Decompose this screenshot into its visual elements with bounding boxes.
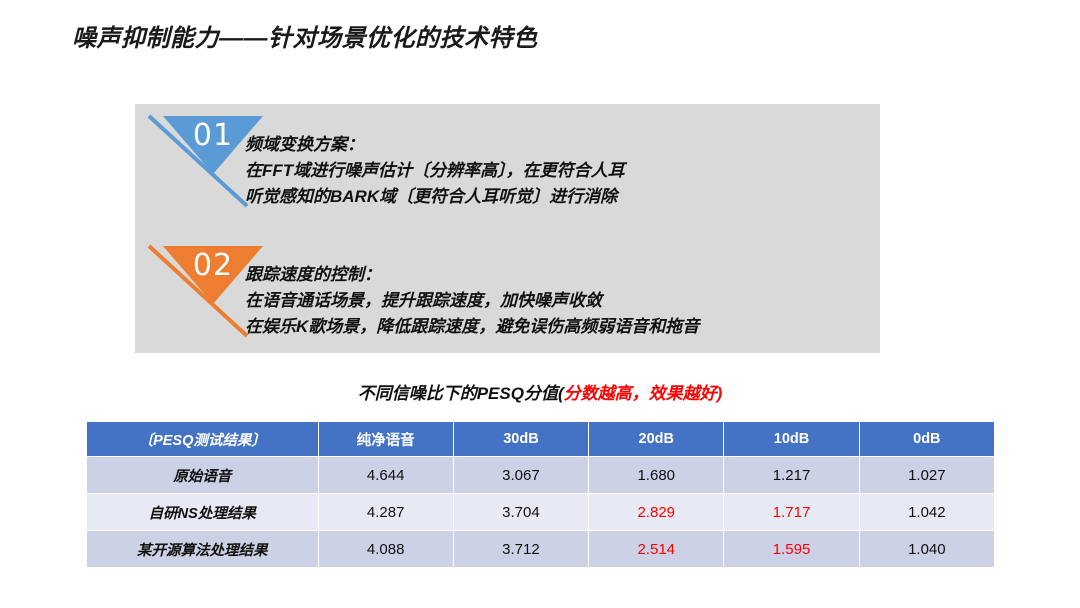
table-row: 原始语音 4.644 3.067 1.680 1.217 1.027	[87, 457, 995, 494]
table-header-row: 〔PESQ测试结果〕 纯净语音 30dB 20dB 10dB 0dB	[87, 422, 995, 457]
cell-value: 1.040	[859, 531, 994, 568]
table-header-cell-5: 0dB	[859, 422, 994, 457]
feature-heading-02: 跟踪速度的控制：	[245, 262, 699, 288]
table-header-cell-1: 纯净语音	[318, 422, 453, 457]
table-caption-highlight: 分数越高，效果越好)	[564, 384, 723, 403]
feature-line-02-2: 在娱乐K歌场景，降低跟踪速度，避免误伤高频弱语音和拖音	[245, 314, 699, 340]
table-header-cell-0: 〔PESQ测试结果〕	[87, 422, 319, 457]
feature-text-01: 频域变换方案： 在FFT域进行噪声估计〔分辨率高〕，在更符合人耳 听觉感知的BA…	[245, 132, 625, 210]
cell-value: 1.680	[589, 457, 724, 494]
table-caption: 不同信噪比下的PESQ分值(分数越高，效果越好)	[0, 379, 1080, 404]
cell-value: 2.829	[589, 494, 724, 531]
cell-value: 4.644	[318, 457, 453, 494]
cell-value: 3.704	[453, 494, 588, 531]
cell-value: 2.514	[589, 531, 724, 568]
table-header-cell-4: 10dB	[724, 422, 859, 457]
cell-value: 1.595	[724, 531, 859, 568]
cell-value: 1.042	[859, 494, 994, 531]
cell-value: 1.217	[724, 457, 859, 494]
cell-value: 1.027	[859, 457, 994, 494]
row-label: 自研NS处理结果	[87, 494, 319, 531]
page-title: 噪声抑制能力——针对场景优化的技术特色	[72, 18, 538, 53]
cell-value: 3.067	[453, 457, 588, 494]
feature-line-01-2: 听觉感知的BARK域〔更符合人耳听觉〕进行消除	[245, 184, 625, 210]
table-header-cell-2: 30dB	[453, 422, 588, 457]
feature-heading-01: 频域变换方案：	[245, 132, 625, 158]
table-body: 原始语音 4.644 3.067 1.680 1.217 1.027 自研NS处…	[87, 457, 995, 568]
table-header: 〔PESQ测试结果〕 纯净语音 30dB 20dB 10dB 0dB	[87, 422, 995, 457]
feature-text-02: 跟踪速度的控制： 在语音通话场景，提升跟踪速度，加快噪声收敛 在娱乐K歌场景，降…	[245, 262, 699, 340]
cell-value: 4.287	[318, 494, 453, 531]
feature-line-02-1: 在语音通话场景，提升跟踪速度，加快噪声收敛	[245, 288, 699, 314]
table-caption-normal: 不同信噪比下的PESQ分值(	[358, 384, 564, 403]
feature-line-01-1: 在FFT域进行噪声估计〔分辨率高〕，在更符合人耳	[245, 158, 625, 184]
table-row: 自研NS处理结果 4.287 3.704 2.829 1.717 1.042	[87, 494, 995, 531]
cell-value: 4.088	[318, 531, 453, 568]
table-row: 某开源算法处理结果 4.088 3.712 2.514 1.595 1.040	[87, 531, 995, 568]
row-label: 某开源算法处理结果	[87, 531, 319, 568]
table-header-cell-3: 20dB	[589, 422, 724, 457]
cell-value: 1.717	[724, 494, 859, 531]
feature-panel: 01 频域变换方案： 在FFT域进行噪声估计〔分辨率高〕，在更符合人耳 听觉感知…	[135, 104, 880, 353]
cell-value: 3.712	[453, 531, 588, 568]
pesq-results-table: 〔PESQ测试结果〕 纯净语音 30dB 20dB 10dB 0dB 原始语音 …	[86, 421, 995, 568]
row-label: 原始语音	[87, 457, 319, 494]
